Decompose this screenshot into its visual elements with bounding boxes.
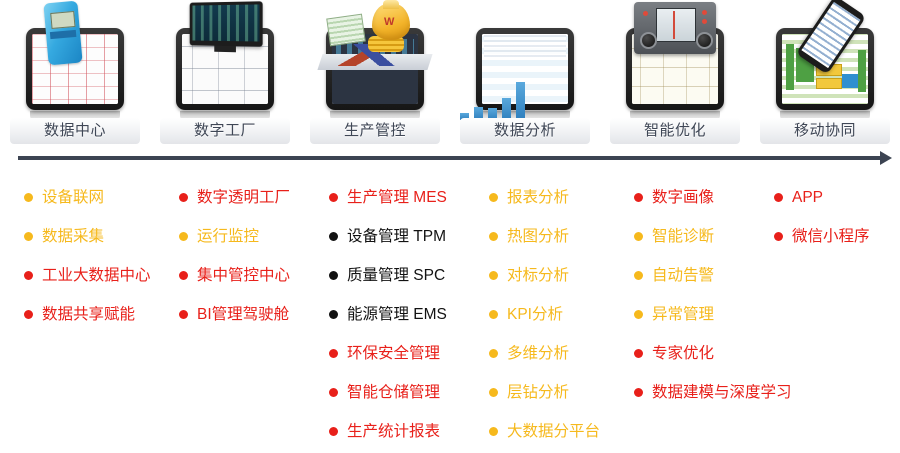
list-item[interactable]: BI管理驾驶舱: [179, 295, 290, 334]
capability-lists: 设备联网数据采集工业大数据中心数据共享赋能数字透明工厂运行监控集中管控中心BI管…: [0, 178, 900, 453]
progression-arrow-head: [880, 151, 892, 165]
list-item-label: 多维分析: [507, 345, 569, 362]
list-item-label: 环保安全管理: [347, 345, 440, 362]
bullet-icon: [489, 193, 498, 202]
list-column-data-center: 设备联网数据采集工业大数据中心数据共享赋能: [24, 178, 151, 334]
bullet-icon: [489, 271, 498, 280]
bullet-icon: [489, 349, 498, 358]
device-col-mobile-collaboration[interactable]: 移动协同: [750, 0, 900, 150]
bullet-icon: [634, 388, 643, 397]
list-item[interactable]: 生产管理 MES: [329, 178, 447, 217]
list-item-label: 生产统计报表: [347, 423, 440, 440]
list-column-digital-factory: 数字透明工厂运行监控集中管控中心BI管理驾驶舱: [179, 178, 290, 334]
device-col-production-control[interactable]: W 生产管控: [300, 0, 450, 150]
list-item-label: 数据建模与深度学习: [652, 384, 792, 401]
bullet-icon: [774, 232, 783, 241]
electric-meter-icon: [43, 1, 82, 66]
list-item[interactable]: 工业大数据中心: [24, 256, 151, 295]
bullet-icon: [489, 427, 498, 436]
list-item[interactable]: 热图分析: [489, 217, 600, 256]
bullet-icon: [329, 427, 338, 436]
bullet-icon: [634, 193, 643, 202]
list-item-label: 智能诊断: [652, 228, 714, 245]
list-item-label: 数据采集: [42, 228, 104, 245]
bullet-icon: [24, 310, 33, 319]
bullet-icon: [774, 193, 783, 202]
list-item-label: 质量管理 SPC: [347, 267, 445, 284]
list-item[interactable]: 专家优化: [634, 334, 792, 373]
column-title-intelligent-optimization: 智能优化: [600, 119, 750, 143]
progression-arrow-line: [18, 156, 882, 160]
money-bag-growth-icon: W: [320, 0, 430, 70]
column-title-data-center: 数据中心: [0, 119, 150, 143]
list-item-label: 专家优化: [652, 345, 714, 362]
list-item[interactable]: 生产统计报表: [329, 412, 447, 451]
device-col-data-center[interactable]: 数据中心: [0, 0, 150, 150]
list-item-label: 工业大数据中心: [42, 267, 151, 284]
list-item-label: 自动告警: [652, 267, 714, 284]
list-item-label: 层钻分析: [507, 384, 569, 401]
list-item[interactable]: 异常管理: [634, 295, 792, 334]
list-item[interactable]: 自动告警: [634, 256, 792, 295]
bullet-icon: [179, 232, 188, 241]
bullet-icon: [24, 193, 33, 202]
list-item-label: KPI分析: [507, 306, 563, 323]
list-item[interactable]: KPI分析: [489, 295, 600, 334]
list-item-label: 设备管理 TPM: [347, 228, 446, 245]
list-item-label: 报表分析: [507, 189, 569, 206]
control-panel-icon: [634, 2, 716, 54]
bullet-icon: [634, 349, 643, 358]
list-item-label: 数据共享赋能: [42, 306, 135, 323]
list-item-label: 数字画像: [652, 189, 714, 206]
bullet-icon: [24, 232, 33, 241]
bullet-icon: [329, 310, 338, 319]
bullet-icon: [179, 271, 188, 280]
bullet-icon: [179, 193, 188, 202]
column-title-production-control: 生产管控: [300, 119, 450, 143]
list-item[interactable]: 大数据分平台: [489, 412, 600, 451]
list-item[interactable]: 数字画像: [634, 178, 792, 217]
list-item-label: 大数据分平台: [507, 423, 600, 440]
list-item[interactable]: 微信小程序: [774, 217, 870, 256]
column-title-digital-factory: 数字工厂: [150, 119, 300, 143]
bullet-icon: [179, 310, 188, 319]
list-item[interactable]: 数字透明工厂: [179, 178, 290, 217]
list-item[interactable]: 能源管理 EMS: [329, 295, 447, 334]
column-title-data-analysis: 数据分析: [450, 119, 600, 143]
bar-chart-icon: [458, 82, 532, 120]
device-col-intelligent-optimization[interactable]: 智能优化: [600, 0, 750, 150]
bullet-icon: [329, 193, 338, 202]
list-item[interactable]: 数据采集: [24, 217, 151, 256]
bullet-icon: [329, 271, 338, 280]
list-item-label: 集中管控中心: [197, 267, 290, 284]
list-item[interactable]: 数据建模与深度学习: [634, 373, 792, 412]
list-item-label: 数字透明工厂: [197, 189, 290, 206]
bullet-icon: [634, 271, 643, 280]
bullet-icon: [489, 388, 498, 397]
list-item[interactable]: 报表分析: [489, 178, 600, 217]
list-item-label: BI管理驾驶舱: [197, 306, 289, 323]
bullet-icon: [329, 349, 338, 358]
list-item-label: 能源管理 EMS: [347, 306, 447, 323]
list-item[interactable]: 层钻分析: [489, 373, 600, 412]
list-item[interactable]: 运行监控: [179, 217, 290, 256]
list-item-label: 生产管理 MES: [347, 189, 447, 206]
list-item[interactable]: APP: [774, 178, 870, 217]
list-item[interactable]: 环保安全管理: [329, 334, 447, 373]
bullet-icon: [634, 232, 643, 241]
device-col-digital-factory[interactable]: 数字工厂: [150, 0, 300, 150]
bullet-icon: [489, 310, 498, 319]
list-item[interactable]: 设备联网: [24, 178, 151, 217]
list-item[interactable]: 设备管理 TPM: [329, 217, 447, 256]
list-column-production-control: 生产管理 MES设备管理 TPM质量管理 SPC能源管理 EMS环保安全管理智能…: [329, 178, 447, 451]
list-item-label: 对标分析: [507, 267, 569, 284]
column-title-mobile-collaboration: 移动协同: [750, 119, 900, 143]
list-item[interactable]: 对标分析: [489, 256, 600, 295]
list-item-label: APP: [792, 189, 823, 206]
list-column-mobile-collaboration: APP微信小程序: [774, 178, 870, 256]
bullet-icon: [329, 388, 338, 397]
device-header-row: 数据中心 数字工厂: [0, 0, 900, 150]
desktop-monitor-icon: [190, 1, 263, 46]
list-item[interactable]: 数据共享赋能: [24, 295, 151, 334]
list-item-label: 运行监控: [197, 228, 259, 245]
bullet-icon: [489, 232, 498, 241]
list-item[interactable]: 智能仓储管理: [329, 373, 447, 412]
list-column-intelligent-optimization: 数字画像智能诊断自动告警异常管理专家优化数据建模与深度学习: [634, 178, 792, 412]
list-item[interactable]: 多维分析: [489, 334, 600, 373]
list-item-label: 热图分析: [507, 228, 569, 245]
list-item[interactable]: 集中管控中心: [179, 256, 290, 295]
list-column-data-analysis: 报表分析热图分析对标分析KPI分析多维分析层钻分析大数据分平台: [489, 178, 600, 451]
bullet-icon: [634, 310, 643, 319]
list-item[interactable]: 智能诊断: [634, 217, 792, 256]
bullet-icon: [24, 271, 33, 280]
list-item-label: 微信小程序: [792, 228, 870, 245]
bullet-icon: [329, 232, 338, 241]
list-item-label: 设备联网: [42, 189, 104, 206]
list-item-label: 智能仓储管理: [347, 384, 440, 401]
device-col-data-analysis[interactable]: 数据分析: [450, 0, 600, 150]
list-item[interactable]: 质量管理 SPC: [329, 256, 447, 295]
list-item-label: 异常管理: [652, 306, 714, 323]
